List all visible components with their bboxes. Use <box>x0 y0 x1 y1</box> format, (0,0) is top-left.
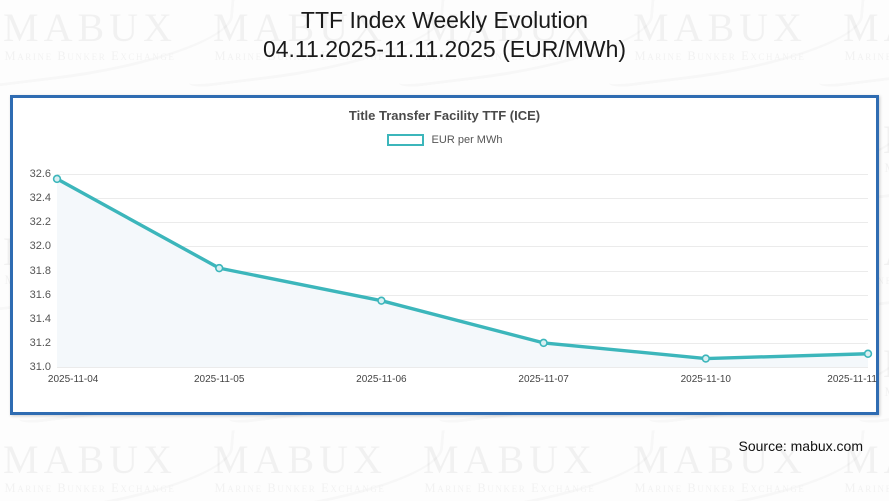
watermark-sub-text: Marine Bunker Exchange <box>360 481 660 496</box>
x-axis-tick-label: 2025-11-06 <box>356 374 406 385</box>
x-axis-tick-label: 2025-11-10 <box>681 374 731 385</box>
data-point-marker[interactable] <box>54 175 61 182</box>
page-title: TTF Index Weekly Evolution 04.11.2025-11… <box>0 0 889 64</box>
data-point-marker[interactable] <box>216 265 223 272</box>
y-axis-tick-label: 31.8 <box>30 265 51 277</box>
series-area-fill <box>57 179 868 367</box>
y-axis-tick-label: 32.2 <box>30 216 51 228</box>
data-point-marker[interactable] <box>702 355 709 362</box>
watermark-main-text: MABUX <box>0 440 240 480</box>
watermark-mabux: MABUXMarine Bunker Exchange <box>360 440 660 496</box>
x-axis-tick-label: 2025-11-05 <box>194 374 244 385</box>
watermark-mabux: MABUXMarine Bunker Exchange <box>0 440 240 496</box>
chart-legend: EUR per MWh <box>13 134 876 146</box>
y-axis-tick-label: 31.6 <box>30 289 51 301</box>
legend-swatch-eur-per-mwh[interactable] <box>387 134 424 146</box>
plot-wrapper: 31.031.231.431.631.832.032.232.432.6 202… <box>13 150 876 412</box>
y-axis-tick-label: 31.4 <box>30 313 51 325</box>
watermark-sub-text: Marine Bunker Exchange <box>780 481 889 496</box>
y-axis-tick-label: 31.2 <box>30 337 51 349</box>
y-axis-tick-label: 32.6 <box>30 168 51 180</box>
x-axis-tick-label: 2025-11-07 <box>518 374 568 385</box>
y-axis-tick-label: 32.0 <box>30 240 51 252</box>
legend-label-eur-per-mwh[interactable]: EUR per MWh <box>432 134 503 146</box>
data-point-marker[interactable] <box>378 297 385 304</box>
watermark-sub-text: Marine Bunker Exchange <box>0 481 240 496</box>
watermark-sub-text: Marine Bunker Exchange <box>570 481 870 496</box>
plot-area: 31.031.231.431.631.832.032.232.432.6 202… <box>57 162 868 367</box>
watermark-swoosh-icon <box>398 430 654 501</box>
data-point-marker[interactable] <box>540 339 547 346</box>
chart-container: Title Transfer Facility TTF (ICE) EUR pe… <box>10 95 879 415</box>
watermark-main-text: MABUX <box>360 440 660 480</box>
x-axis-tick-label: 2025-11-04 <box>48 374 98 385</box>
watermark-sub-text: Marine Bunker Exchange <box>150 481 450 496</box>
chart-title: Title Transfer Facility TTF (ICE) <box>13 108 876 123</box>
series-plot <box>57 162 868 367</box>
page-title-line-2: 04.11.2025-11.11.2025 (EUR/MWh) <box>0 35 889 64</box>
watermark-main-text: MABUX <box>150 440 450 480</box>
y-axis-tick-label: 32.4 <box>30 192 51 204</box>
y-axis-tick-label: 31.0 <box>30 361 51 373</box>
x-axis-tick-label: 2025-11-11 <box>827 374 877 385</box>
page-title-line-1: TTF Index Weekly Evolution <box>0 6 889 35</box>
watermark-swoosh-icon <box>188 430 444 501</box>
gridline <box>57 367 868 368</box>
source-note: Source: mabux.com <box>739 438 864 454</box>
watermark-swoosh-icon <box>0 430 235 501</box>
watermark-mabux: MABUXMarine Bunker Exchange <box>150 440 450 496</box>
data-point-marker[interactable] <box>865 350 872 357</box>
